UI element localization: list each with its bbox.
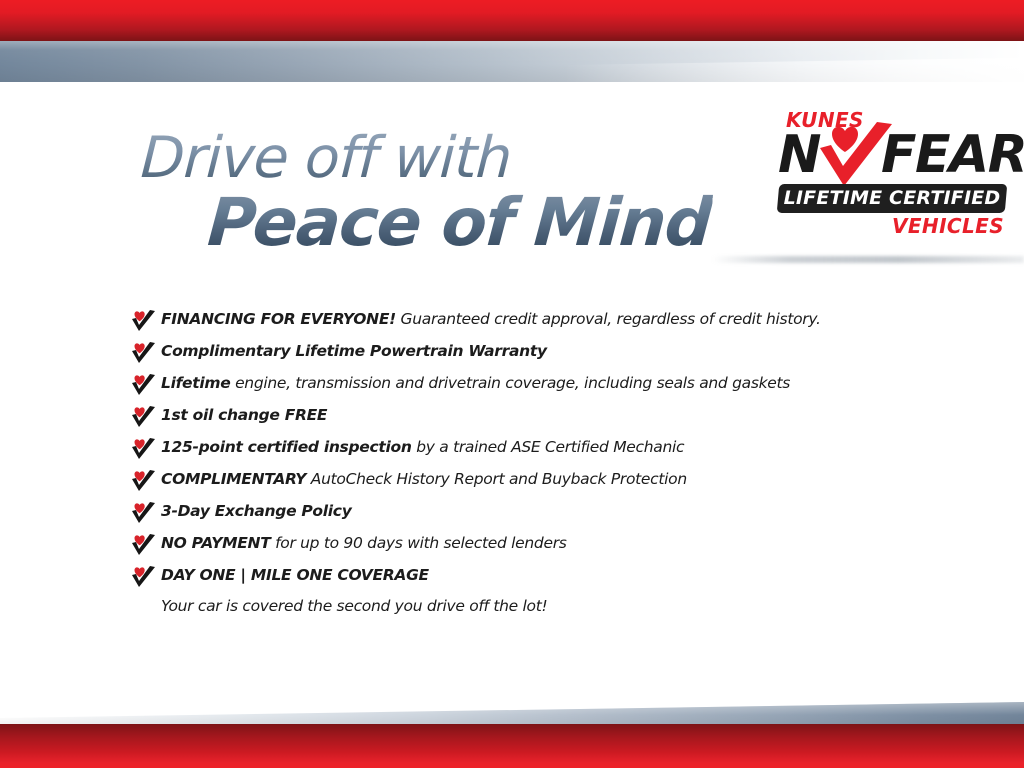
check-heart-icon	[130, 374, 156, 396]
logo-drop-shadow	[712, 256, 1024, 263]
benefit-subline: Your car is covered the second you drive…	[161, 595, 930, 617]
benefits-list: FINANCING FOR EVERYONE! Guaranteed credi…	[130, 308, 930, 617]
benefit-text-bold: DAY ONE | MILE ONE COVERAGE	[161, 566, 429, 584]
benefit-row: Lifetime engine, transmission and drivet…	[130, 372, 930, 404]
benefit-text: Lifetime engine, transmission and drivet…	[161, 372, 930, 394]
benefit-item: 1st oil change FREE	[130, 404, 930, 436]
benefit-text-bold: Lifetime	[161, 374, 230, 392]
benefit-row: COMPLIMENTARY AutoCheck History Report a…	[130, 468, 930, 500]
benefit-text: DAY ONE | MILE ONE COVERAGE	[161, 564, 930, 586]
logo-word-fear: FEAR	[881, 126, 1024, 184]
benefit-text-regular: Guaranteed credit approval, regardless o…	[396, 310, 821, 328]
benefit-text: FINANCING FOR EVERYONE! Guaranteed credi…	[161, 308, 930, 330]
benefit-row: 125-point certified inspection by a trai…	[130, 436, 930, 468]
benefit-row: Complimentary Lifetime Powertrain Warran…	[130, 340, 930, 372]
check-heart-icon	[130, 438, 156, 460]
promo-page: Drive off with Peace of Mind KUNES N FEA…	[0, 0, 1024, 768]
headline-line-1: Drive off with	[140, 130, 513, 187]
benefit-text-bold: 125-point certified inspection	[161, 438, 412, 456]
bottom-gray-banner-sheen	[0, 700, 1024, 725]
benefit-text-bold: 1st oil change FREE	[161, 406, 327, 424]
check-heart-icon	[130, 502, 156, 524]
benefit-text-regular: AutoCheck History Report and Buyback Pro…	[306, 470, 687, 488]
benefit-item: DAY ONE | MILE ONE COVERAGEYour car is c…	[130, 564, 930, 617]
logo-no-fear-wordmark: N FEAR	[778, 126, 1016, 184]
benefit-row: 3-Day Exchange Policy	[130, 500, 930, 532]
check-heart-icon	[130, 534, 156, 556]
benefit-text-regular: engine, transmission and drivetrain cove…	[230, 374, 790, 392]
check-heart-icon	[130, 470, 156, 492]
benefit-text-bold: NO PAYMENT	[161, 534, 270, 552]
benefit-item: 125-point certified inspection by a trai…	[130, 436, 930, 468]
benefit-text: 125-point certified inspection by a trai…	[161, 436, 930, 458]
benefit-text: Complimentary Lifetime Powertrain Warran…	[161, 340, 930, 362]
benefit-item: NO PAYMENT for up to 90 days with select…	[130, 532, 930, 564]
benefit-item: FINANCING FOR EVERYONE! Guaranteed credi…	[130, 308, 930, 340]
check-heart-icon	[130, 406, 156, 428]
benefit-text: 1st oil change FREE	[161, 404, 930, 426]
benefit-row: 1st oil change FREE	[130, 404, 930, 436]
benefit-row: FINANCING FOR EVERYONE! Guaranteed credi…	[130, 308, 930, 340]
benefit-text-bold: 3-Day Exchange Policy	[161, 502, 352, 520]
benefit-text-bold: FINANCING FOR EVERYONE!	[161, 310, 396, 328]
logo-word-vehicles: VEHICLES	[892, 214, 1004, 238]
benefit-text-bold: Complimentary Lifetime Powertrain Warran…	[161, 342, 547, 360]
kunes-no-fear-logo: KUNES N FEAR LIFETIME CERTIFIED VEHICLES	[778, 108, 1016, 246]
benefit-item: 3-Day Exchange Policy	[130, 500, 930, 532]
logo-banner-label: LIFETIME CERTIFIED	[778, 184, 1006, 213]
benefit-text-regular: for up to 90 days with selected lenders	[270, 534, 566, 552]
bottom-red-banner	[0, 724, 1024, 768]
top-red-banner	[0, 0, 1024, 41]
check-heart-icon	[130, 310, 156, 332]
benefit-text: 3-Day Exchange Policy	[161, 500, 930, 522]
headline-block: Drive off with Peace of Mind	[0, 116, 720, 266]
benefit-text-regular: by a trained ASE Certified Mechanic	[412, 438, 685, 456]
benefit-item: Complimentary Lifetime Powertrain Warran…	[130, 340, 930, 372]
benefit-row: NO PAYMENT for up to 90 days with select…	[130, 532, 930, 564]
benefit-item: Lifetime engine, transmission and drivet…	[130, 372, 930, 404]
benefit-row: DAY ONE | MILE ONE COVERAGE	[130, 564, 930, 596]
check-heart-icon	[130, 342, 156, 364]
benefit-item: COMPLIMENTARY AutoCheck History Report a…	[130, 468, 930, 500]
benefit-text: COMPLIMENTARY AutoCheck History Report a…	[161, 468, 930, 490]
benefit-text-bold: COMPLIMENTARY	[161, 470, 306, 488]
headline-line-2: Peace of Mind	[206, 190, 713, 256]
check-heart-icon	[130, 566, 156, 588]
benefit-text: NO PAYMENT for up to 90 days with select…	[161, 532, 930, 554]
